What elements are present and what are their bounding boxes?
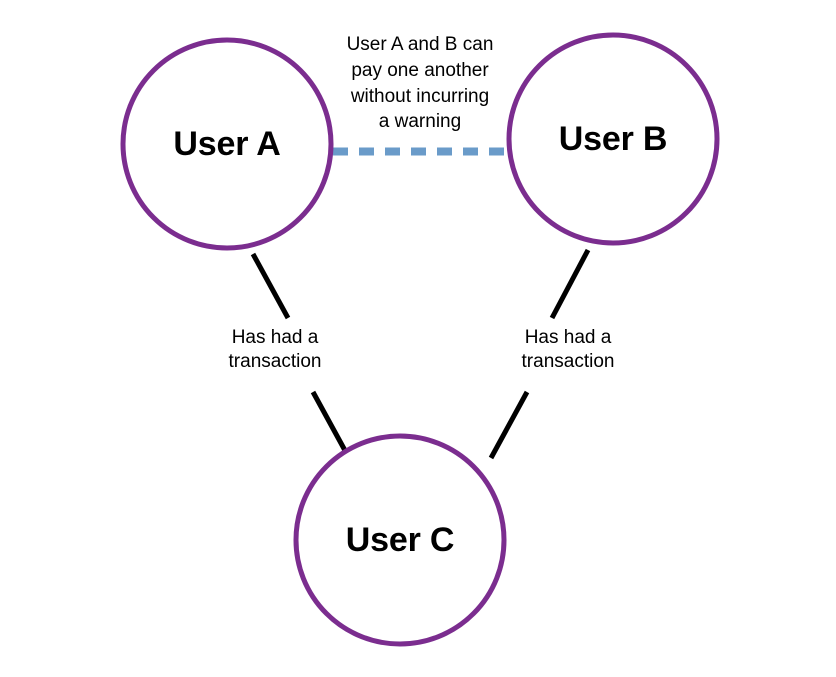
- diagram-canvas: User A User B User C User A and B can pa…: [0, 0, 836, 677]
- edge-label-a-c: Has had a transaction: [195, 326, 355, 375]
- edge-b-c-segment-lower: [491, 392, 527, 458]
- edge-label-b-c-line-1: Has had a: [488, 326, 648, 350]
- edge-b-c-segment-upper: [552, 250, 588, 318]
- edge-label-b-c: Has had a transaction: [488, 326, 648, 375]
- annotation-line-2: pay one another: [320, 58, 520, 84]
- annotation-line-1: User A and B can: [320, 32, 520, 58]
- edge-label-b-c-line-2: transaction: [488, 350, 648, 374]
- node-label-user-c: User C: [300, 523, 500, 557]
- node-label-user-b: User B: [513, 122, 713, 156]
- annotation-dashed-edge: User A and B can pay one another without…: [320, 32, 520, 135]
- annotation-line-3: without incurring: [320, 84, 520, 110]
- annotation-line-4: a warning: [320, 109, 520, 135]
- node-label-user-a: User A: [127, 127, 327, 161]
- edge-a-c-segment-upper: [253, 254, 288, 318]
- edge-label-a-c-line-1: Has had a: [195, 326, 355, 350]
- edge-a-c-segment-lower: [313, 392, 348, 456]
- edge-label-a-c-line-2: transaction: [195, 350, 355, 374]
